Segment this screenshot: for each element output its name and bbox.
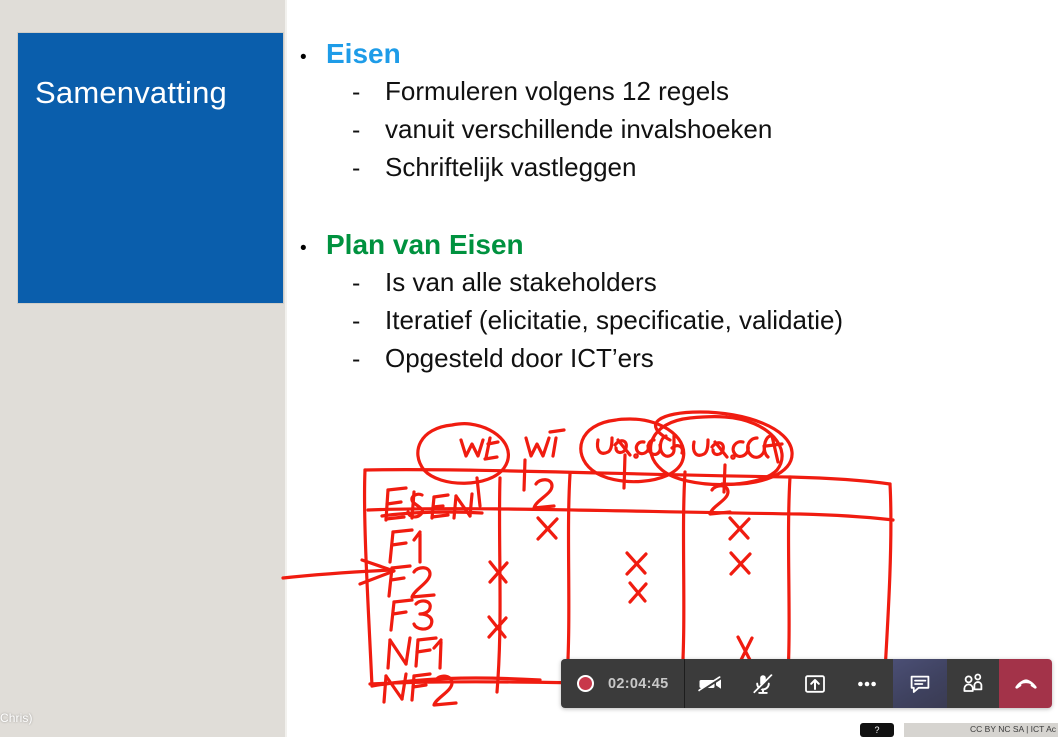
list-item: - Is van alle stakeholders	[352, 264, 1050, 301]
dash-icon: -	[352, 118, 385, 143]
phone-hangup-icon	[1011, 669, 1041, 699]
list-item: - Opgesteld door ICT’ers	[352, 340, 1050, 377]
page-title: Samenvatting	[35, 75, 227, 111]
dash-icon: -	[352, 80, 385, 105]
microphone-off-button[interactable]	[737, 659, 789, 708]
bullet-group-plan-van-eisen: • Plan van Eisen - Is van alle stakehold…	[300, 227, 1050, 378]
recording-timer: 02:04:45	[608, 676, 668, 692]
slide-footer: ? CC BY NC SA | ICT Ac	[860, 723, 1058, 737]
hang-up-button[interactable]	[999, 659, 1052, 708]
bullet-heading-row: • Eisen	[300, 36, 1050, 71]
mic-off-icon	[749, 670, 777, 698]
bullet-group-spacer	[300, 197, 1050, 227]
chat-icon	[906, 670, 934, 698]
chat-button[interactable]	[893, 659, 947, 708]
dash-icon: -	[352, 271, 385, 296]
dash-icon: -	[352, 156, 385, 181]
list-item-label: Opgesteld door ICT’ers	[385, 340, 654, 377]
recording-status: 02:04:45	[561, 659, 685, 708]
bullet-heading-eisen: Eisen	[326, 36, 401, 71]
list-item-label: Is van alle stakeholders	[385, 264, 657, 301]
list-item-label: Formuleren volgens 12 regels	[385, 73, 729, 110]
more-options-button[interactable]	[841, 659, 893, 708]
list-item-label: Schriftelijk vastleggen	[385, 149, 636, 186]
bullet-group-eisen: • Eisen - Formuleren volgens 12 regels -…	[300, 36, 1050, 187]
dash-icon: -	[352, 309, 385, 334]
footer-license-text: CC BY NC SA | ICT Ac	[970, 724, 1056, 734]
slide-number-badge: ?	[860, 723, 894, 737]
bullet-heading-row: • Plan van Eisen	[300, 227, 1050, 262]
slide-title-block: Samenvatting	[18, 33, 283, 303]
share-screen-icon	[801, 670, 829, 698]
list-item: - Iteratief (elicitatie, specificatie, v…	[352, 302, 1050, 339]
slide-body: • Eisen - Formuleren volgens 12 regels -…	[300, 36, 1050, 387]
ellipsis-icon	[853, 670, 881, 698]
footer-license-bar: CC BY NC SA | ICT Ac	[904, 723, 1058, 737]
dash-icon: -	[352, 347, 385, 372]
share-screen-button[interactable]	[789, 659, 841, 708]
list-item-label: Iteratief (elicitatie, specificatie, val…	[385, 302, 843, 339]
presenter-name-tag: Chris)	[0, 711, 33, 725]
people-icon	[959, 670, 987, 698]
bullet-dot-icon: •	[300, 48, 326, 67]
participants-button[interactable]	[947, 659, 999, 708]
shared-screen-region: Samenvatting • Eisen - Formuleren volgen…	[0, 0, 1058, 737]
list-item: - Formuleren volgens 12 regels	[352, 73, 1050, 110]
bullet-heading-plan-van-eisen: Plan van Eisen	[326, 227, 524, 262]
slide-panel-divider	[285, 0, 287, 737]
list-item: - vanuit verschillende invalshoeken	[352, 111, 1050, 148]
bullet-dot-icon: •	[300, 239, 326, 258]
meeting-control-bar[interactable]: 02:04:45	[561, 659, 1052, 708]
camera-off-button[interactable]	[685, 659, 737, 708]
recording-indicator-icon	[577, 675, 594, 692]
list-item-label: vanuit verschillende invalshoeken	[385, 111, 772, 148]
list-item: - Schriftelijk vastleggen	[352, 149, 1050, 186]
video-off-icon	[697, 670, 725, 698]
